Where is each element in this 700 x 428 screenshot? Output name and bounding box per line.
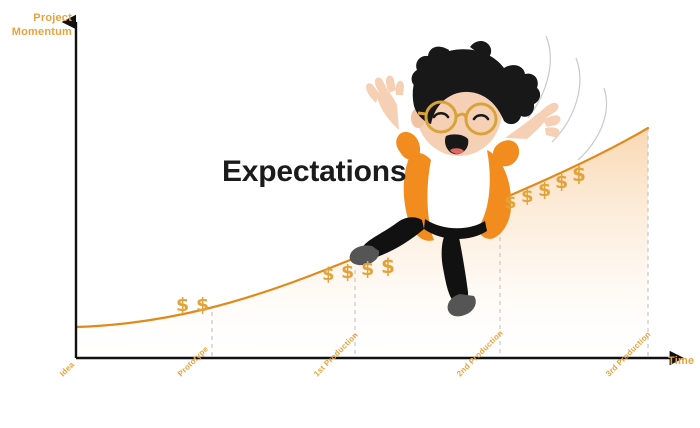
page-title: Expectations bbox=[222, 155, 406, 189]
motion-lines-icon bbox=[528, 36, 606, 160]
chart-canvas: Project Momentum Time Expectations Idea … bbox=[0, 0, 700, 428]
x-axis-label: Time bbox=[668, 355, 700, 369]
growth-chart-graphic bbox=[0, 0, 700, 428]
y-axis-label: Project Momentum bbox=[6, 12, 72, 40]
